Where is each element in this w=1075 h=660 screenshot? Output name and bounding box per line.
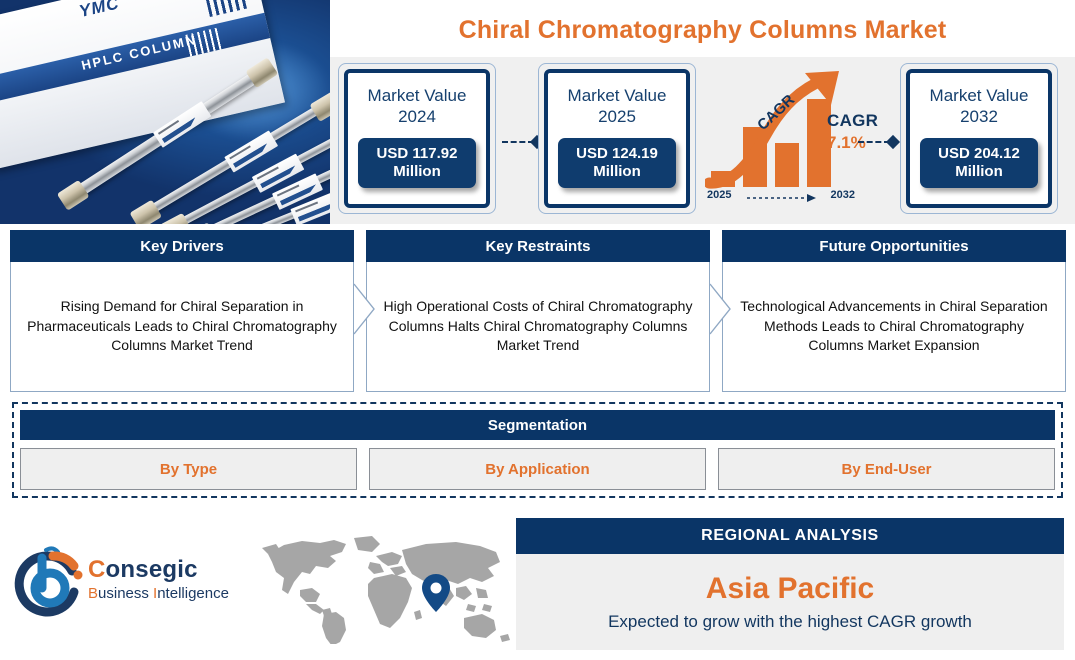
market-value-chip: USD 117.92 Million [358,138,476,188]
panel-key-restraints: Key Restraints High Operational Costs of… [366,230,710,392]
panel-heading: Future Opportunities [722,230,1066,262]
market-value-card-year: 2025 [598,107,636,126]
market-value-card-year: 2032 [960,107,998,126]
market-value-card-2025: Market Value 2025 USD 124.19 Million [538,63,696,214]
company-logo[interactable]: Consegic Business Intelligence [12,544,242,624]
market-value-card-2032: Market Value 2032 USD 204.12 Million [900,63,1058,214]
hero-section: Chiral Chromatography Columns Market Mar… [330,0,1075,224]
market-value-card-inner: Market Value 2024 USD 117.92 Million [344,69,490,208]
market-value-card-year: 2024 [398,107,436,126]
panel-chevron-icon-2 [708,282,732,336]
segment-by-type[interactable]: By Type [20,448,357,490]
market-value-card-2024: Market Value 2024 USD 117.92 Million [338,63,496,214]
insight-panels: Key Drivers Rising Demand for Chiral Sep… [0,230,1075,392]
market-value-amount: USD 204.12 [938,145,1020,162]
panel-body: High Operational Costs of Chiral Chromat… [366,262,710,392]
segmentation-heading: Segmentation [20,410,1055,440]
map-location-pin-icon [422,574,450,612]
market-value-card-inner: Market Value 2025 USD 124.19 Million [544,69,690,208]
regional-analysis-heading: REGIONAL ANALYSIS [516,518,1064,554]
page-title: Chiral Chromatography Columns Market [330,16,1075,45]
cagr-year-axis: 2025 2032 [707,189,855,205]
logo-tagline-b: B [88,585,98,602]
connector-diamond-icon [886,135,900,149]
panel-future-opportunities: Future Opportunities Technological Advan… [722,230,1066,392]
regional-analysis-card: REGIONAL ANALYSIS Asia Pacific Expected … [516,518,1064,650]
top-band: YMC HPLC COLUMN [0,0,1075,224]
market-value-amount: USD 124.19 [576,145,658,162]
panel-body-text: Rising Demand for Chiral Separation in P… [25,297,339,357]
panel-body: Technological Advancements in Chiral Sep… [722,262,1066,392]
column-fitting-left [57,180,90,211]
logo-company-name: Consegic [88,556,229,584]
logo-tagline: Business Intelligence [88,585,229,602]
panel-heading: Key Drivers [10,230,354,262]
market-value-unit: Million [593,163,641,180]
market-value-card-title-line1: Market Value [568,86,667,105]
panel-body-text: High Operational Costs of Chiral Chromat… [381,297,695,357]
market-value-strip: Market Value 2024 USD 117.92 Million [330,57,1075,224]
cagr-word-label: CAGR [827,111,878,131]
column-fitting-left [159,213,191,224]
column-fitting-left [129,200,162,224]
segmentation-section: Segmentation By Type By Application By E… [12,402,1063,498]
box-barcode-icon [200,0,248,17]
bottom-band: Consegic Business Intelligence [0,508,1075,660]
panel-body: Rising Demand for Chiral Separation in P… [10,262,354,392]
infographic-page: YMC HPLC COLUMN [0,0,1075,660]
world-map [250,532,515,644]
panel-heading: Key Restraints [366,230,710,262]
market-value-card-inner: Market Value 2032 USD 204.12 Million [906,69,1052,208]
panel-key-drivers: Key Drivers Rising Demand for Chiral Sep… [10,230,354,392]
regional-analysis-subtitle: Expected to grow with the highest CAGR g… [516,612,1064,632]
consegic-logo-icon [12,544,86,618]
cagr-bar-3 [775,143,799,187]
market-value-card-title: Market Value 2024 [368,85,467,128]
market-value-chip: USD 124.19 Million [558,138,676,188]
market-value-card-title: Market Value 2032 [930,85,1029,128]
connector-cagr-to-2032 [858,137,902,147]
market-value-amount: USD 117.92 [377,145,458,162]
regional-analysis-region: Asia Pacific [516,572,1064,606]
market-value-unit: Million [393,163,441,180]
panel-body-text: Technological Advancements in Chiral Sep… [737,297,1051,357]
world-map-svg [250,532,515,644]
panel-chevron-icon-1 [352,282,376,336]
product-photo: YMC HPLC COLUMN [0,0,330,224]
logo-tagline-ntelligence: ntelligence [157,585,229,602]
segment-by-end-user[interactable]: By End-User [718,448,1055,490]
market-value-card-title-line1: Market Value [930,86,1029,105]
ymc-brand-label: YMC [77,0,121,22]
segment-by-application[interactable]: By Application [369,448,706,490]
cagr-year-end: 2032 [831,189,855,201]
logo-name-rest: onsegic [106,556,198,583]
logo-wordmark: Consegic Business Intelligence [88,556,229,602]
map-continents [262,536,510,644]
logo-name-initial: C [88,556,106,583]
market-value-unit: Million [955,163,1003,180]
segmentation-items: By Type By Application By End-User [20,448,1055,490]
market-value-card-title: Market Value 2025 [568,85,667,128]
market-value-card-title-line1: Market Value [368,86,467,105]
market-value-chip: USD 204.12 Million [920,138,1038,188]
logo-tagline-usiness: usiness [98,585,153,602]
